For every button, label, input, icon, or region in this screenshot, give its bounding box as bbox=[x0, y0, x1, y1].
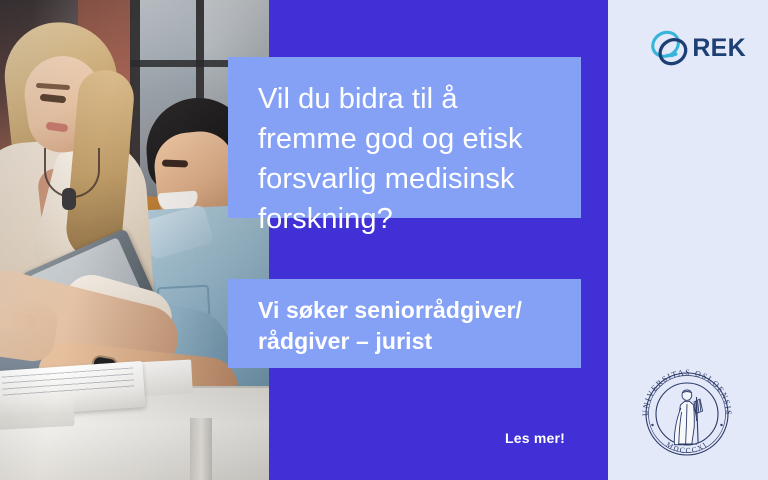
job-title-card: Vi søker seniorrådgiver/ rådgiver – juri… bbox=[228, 279, 581, 368]
rek-interlocking-rings-icon bbox=[650, 27, 690, 69]
job-title: Vi søker seniorrådgiver/ rådgiver – juri… bbox=[258, 295, 557, 357]
job-advert-banner: Vil du bidra til å fremme god og etisk f… bbox=[0, 0, 768, 480]
rek-wordmark: REK bbox=[692, 36, 746, 61]
read-more-link[interactable]: Les mer! bbox=[505, 430, 565, 446]
rek-logo[interactable]: REK bbox=[650, 26, 746, 70]
university-of-oslo-seal-icon: UNIVERSITAS OSLOENSIS MDCCCXI bbox=[637, 364, 737, 464]
headline-card: Vil du bidra til å fremme god og etisk f… bbox=[228, 57, 581, 218]
page-title: Vil du bidra til å fremme god og etisk f… bbox=[258, 79, 555, 239]
